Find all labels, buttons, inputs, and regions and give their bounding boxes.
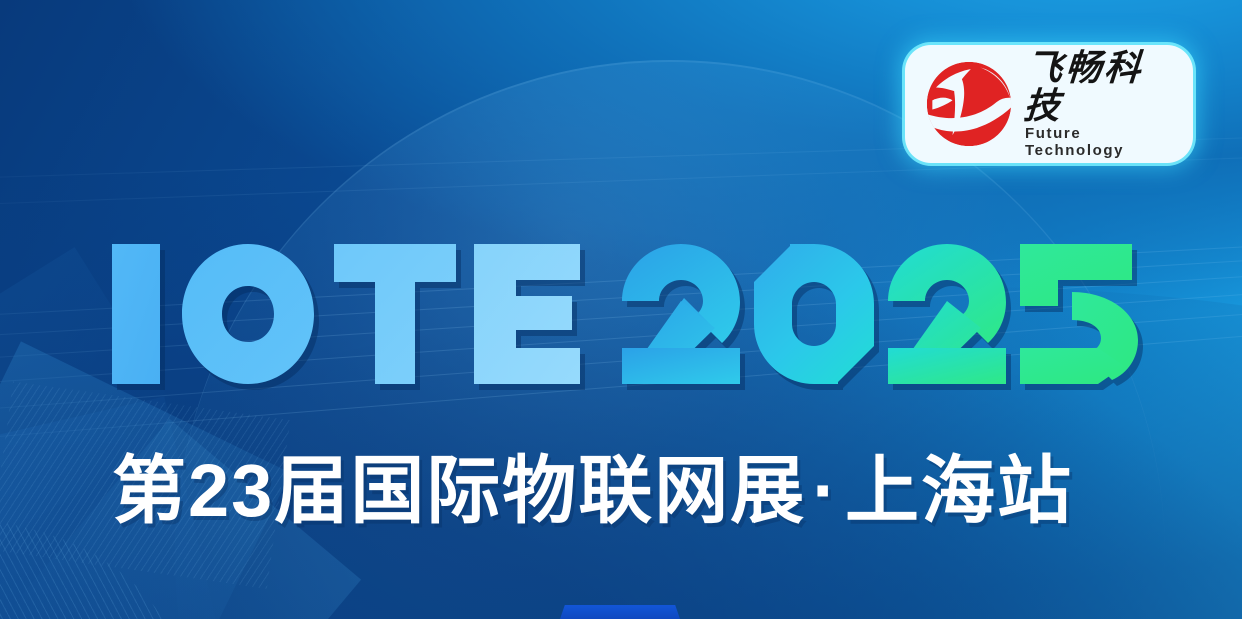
- bottom-tab-accent: [560, 605, 680, 619]
- feichang-red-circle-logo-icon: [923, 60, 1015, 148]
- title-iote: [112, 244, 580, 384]
- event-subtitle: 第23届国际物联网展·上海站: [112, 452, 1132, 530]
- letter-E-glyph: [474, 244, 580, 384]
- subtitle-separator: ·: [806, 449, 845, 532]
- digit-5-glyph: [1020, 244, 1138, 384]
- page-title: [112, 244, 1138, 394]
- brand-logo-text: 飞畅科技 Future Technology: [1025, 49, 1177, 160]
- brand-logo-badge[interactable]: 飞畅科技 Future Technology: [905, 45, 1193, 163]
- digit-0-glyph: [754, 244, 874, 384]
- brand-name-cn: 飞畅科技: [1022, 49, 1179, 125]
- subtitle-event: 国际物联网展: [350, 449, 806, 532]
- title-year-2025: [622, 244, 1138, 384]
- letter-T-glyph: [334, 244, 456, 384]
- digit-2-first-glyph: [622, 244, 740, 384]
- brand-name-en: Future Technology: [1025, 126, 1177, 159]
- letter-O-glyph: [182, 244, 314, 384]
- digit-2-second-glyph: [888, 244, 1006, 384]
- subtitle-edition: 第23届: [112, 449, 350, 532]
- iote-2025-banner: 飞畅科技 Future Technology: [0, 0, 1242, 619]
- letter-I-glyph: [112, 244, 160, 384]
- subtitle-city: 上海站: [845, 449, 1073, 532]
